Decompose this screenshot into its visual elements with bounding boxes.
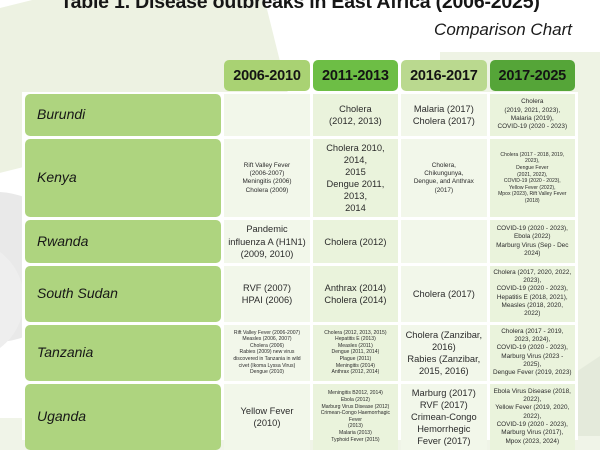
page-subtitle: Comparison Chart: [434, 20, 572, 40]
outbreak-line: COVID-19 (2020 - 2023),: [493, 225, 572, 233]
outbreak-line: RVF (2017): [404, 399, 483, 411]
outbreak-line: Chikungunya,: [404, 170, 483, 178]
outbreak-line: Crimean-Congo: [404, 411, 483, 423]
outbreak-cell: Meningitis B2012, 2014)Ebola (2012)Marbu…: [313, 384, 398, 450]
country-label: Burundi: [25, 94, 221, 136]
outbreak-line: Anthrax (2012, 2014): [316, 369, 395, 376]
outbreak-line: Rift Valley Fever (2006-2007): [227, 330, 306, 337]
table-header: 2006-2010 2011-2013 2016-2017 2017-2025: [25, 60, 575, 91]
table-body: BurundiCholera(2012, 2013)Malaria (2017)…: [25, 94, 575, 450]
country-label: Uganda: [25, 384, 221, 450]
outbreak-line: COVID-19 (2020 - 2023): [493, 123, 572, 131]
outbreak-line: Typhoid Fever (2015): [316, 437, 395, 444]
outbreak-line: Yellow Fever: [227, 405, 306, 417]
table-row: South SudanRVF (2007)HPAI (2006)Anthrax …: [25, 266, 575, 322]
column-header-2017-2025: 2017-2025: [490, 60, 575, 91]
outbreak-line: Plague (2011): [316, 356, 395, 363]
outbreak-cell: Yellow Fever(2010): [224, 384, 309, 450]
outbreak-cell: Cholera (2017 - 2018, 2019, 2023),Dengue…: [490, 139, 575, 217]
outbreak-line: (2021, 2022),: [493, 172, 572, 179]
column-header-2006-2010: 2006-2010: [224, 60, 309, 91]
outbreak-cell: Marburg (2017)RVF (2017)Crimean-CongoHem…: [401, 384, 486, 450]
country-label: Tanzania: [25, 325, 221, 381]
outbreak-line: Cholera (2017): [404, 288, 483, 300]
outbreak-line: Cholera (2014): [316, 294, 395, 306]
outbreak-line: Anthrax (2014): [316, 282, 395, 294]
outbreak-line: COVID-19 (2020 - 2023),: [493, 285, 572, 293]
outbreak-cell: Cholera(2019, 2021, 2023),Malaria (2019)…: [490, 94, 575, 136]
outbreak-line: (2006-2007): [227, 170, 306, 178]
country-column-header: [25, 60, 221, 91]
outbreak-line: Cholera (2017 - 2019, 2023, 2024),: [493, 328, 572, 345]
outbreak-line: Cholera (2012, 2013, 2015): [316, 330, 395, 337]
outbreak-line: Cholera: [493, 98, 572, 106]
outbreak-cell: [224, 94, 309, 136]
outbreak-cell: Ebola Virus Disease (2018, 2022),Yellow …: [490, 384, 575, 450]
outbreak-cell: Cholera 2010, 2014,2015Dengue 2011, 2013…: [313, 139, 398, 217]
table-header-row: 2006-2010 2011-2013 2016-2017 2017-2025: [25, 60, 575, 91]
outbreak-line: Rabies (Zanzibar,: [404, 353, 483, 365]
country-label: Rwanda: [25, 220, 221, 262]
outbreak-line: COVID-19 (2020 - 2023),: [493, 421, 572, 429]
outbreak-line: Cholera 2010, 2014,: [316, 142, 395, 166]
outbreak-line: Yellow Fever (2019, 2020, 2022),: [493, 404, 572, 421]
outbreak-line: Marburg (2017): [404, 387, 483, 399]
page-title: Table 1. Disease outbreaks in East Afric…: [0, 0, 600, 14]
outbreak-line: Ebola (2022): [493, 233, 572, 241]
outbreak-line: Cholera (Zanzibar,: [404, 329, 483, 341]
outbreak-line: Dengue (2011, 2014): [316, 349, 395, 356]
outbreak-cell: Cholera (2017): [401, 266, 486, 322]
outbreak-line: Measles (2011): [316, 343, 395, 350]
outbreak-line: Dengue, and Anthrax: [404, 178, 483, 186]
outbreak-cell: Cholera (Zanzibar,2016)Rabies (Zanzibar,…: [401, 325, 486, 381]
outbreak-line: Pandemic: [227, 223, 306, 235]
outbreak-cell: Anthrax (2014)Cholera (2014): [313, 266, 398, 322]
outbreak-line: (2010): [227, 417, 306, 429]
outbreak-line: Meningitis B2012, 2014): [316, 390, 395, 397]
outbreak-cell: [401, 220, 486, 262]
outbreak-line: Marburg Virus (2023 - 2025),: [493, 353, 572, 370]
outbreak-cell: RVF (2007)HPAI (2006): [224, 266, 309, 322]
outbreak-cell: Cholera (2017 - 2019, 2023, 2024),COVID-…: [490, 325, 575, 381]
outbreak-line: (2009, 2010): [227, 248, 306, 260]
outbreak-cell: COVID-19 (2020 - 2023),Ebola (2022)Marbu…: [490, 220, 575, 262]
table-row: TanzaniaRift Valley Fever (2006-2007)Mea…: [25, 325, 575, 381]
outbreak-line: 2016): [404, 341, 483, 353]
outbreak-line: 2022): [493, 310, 572, 318]
outbreak-line: Malaria (2017): [404, 103, 483, 115]
outbreak-line: influenza A (H1N1): [227, 236, 306, 248]
outbreak-line: Mpox (2023), Rift Valley Fever (2018): [493, 191, 572, 204]
outbreak-line: Cholera: [316, 103, 395, 115]
column-header-2016-2017: 2016-2017: [401, 60, 486, 91]
outbreak-line: 2015: [316, 166, 395, 178]
outbreak-line: Hemorrhegic Fever (2017): [404, 423, 483, 447]
outbreak-line: Mpox (2023, 2024): [493, 438, 572, 446]
outbreak-line: Cholera (2017, 2020, 2022,: [493, 269, 572, 277]
outbreak-cell: Rift Valley Fever(2006-2007)Meningitis (…: [224, 139, 309, 217]
outbreak-line: discovered in Tanzania in wild: [227, 356, 306, 363]
outbreak-line: (2017): [404, 187, 483, 195]
outbreak-line: Dengue Fever: [493, 165, 572, 172]
outbreak-table-container: 2006-2010 2011-2013 2016-2017 2017-2025 …: [22, 57, 578, 450]
outbreak-line: Rabies (2009) new virus: [227, 349, 306, 356]
outbreak-cell: Rift Valley Fever (2006-2007)Measles (20…: [224, 325, 309, 381]
outbreak-line: (2019, 2021, 2023),: [493, 107, 572, 115]
outbreak-cell: Cholera(2012, 2013): [313, 94, 398, 136]
outbreak-line: Marburg Virus (Sep - Dec: [493, 242, 572, 250]
outbreak-cell: Pandemicinfluenza A (H1N1)(2009, 2010): [224, 220, 309, 262]
table-row: UgandaYellow Fever(2010)Meningitis B2012…: [25, 384, 575, 450]
outbreak-cell: Malaria (2017)Cholera (2017): [401, 94, 486, 136]
outbreak-line: Measles (2006, 2007): [227, 336, 306, 343]
outbreak-line: RVF (2007): [227, 282, 306, 294]
outbreak-cell: Cholera,Chikungunya,Dengue, and Anthrax(…: [401, 139, 486, 217]
outbreak-line: civet (Ikoma Lyssa Virus): [227, 363, 306, 370]
outbreak-line: (2013): [316, 423, 395, 430]
outbreak-line: Hepatitis E (2018, 2021),: [493, 294, 572, 302]
outbreak-cell: Cholera (2012, 2013, 2015)Hepatitis E (2…: [313, 325, 398, 381]
outbreak-line: 2024): [493, 250, 572, 258]
outbreak-line: Meningitis (2006): [227, 178, 306, 186]
outbreak-line: Malaria (2013): [316, 430, 395, 437]
outbreak-line: Hepatitis E (2013): [316, 336, 395, 343]
outbreak-line: 2015, 2016): [404, 365, 483, 377]
outbreak-line: Cholera,: [404, 162, 483, 170]
outbreak-line: Dengue 2011, 2013,: [316, 178, 395, 202]
column-header-2011-2013: 2011-2013: [313, 60, 398, 91]
outbreak-line: 2023),: [493, 277, 572, 285]
outbreak-line: Cholera (2017): [404, 115, 483, 127]
outbreak-line: Marburg Virus (2017),: [493, 429, 572, 437]
outbreak-line: 2014: [316, 202, 395, 214]
outbreak-line: Cholera (2006): [227, 343, 306, 350]
outbreak-line: Crimean-Congo Haemorrhagic Fever: [316, 410, 395, 423]
outbreak-line: Yellow Fever (2022),: [493, 185, 572, 192]
outbreak-line: Cholera (2012): [316, 236, 395, 248]
outbreak-cell: Cholera (2012): [313, 220, 398, 262]
outbreak-line: Meningitis (2014): [316, 363, 395, 370]
slide-page: Table 1. Disease outbreaks in East Afric…: [0, 0, 600, 450]
outbreak-line: COVID-19 (2020 - 2023),: [493, 178, 572, 185]
outbreak-line: HPAI (2006): [227, 294, 306, 306]
outbreak-line: (2012, 2013): [316, 115, 395, 127]
table-row: KenyaRift Valley Fever(2006-2007)Meningi…: [25, 139, 575, 217]
outbreak-table: 2006-2010 2011-2013 2016-2017 2017-2025 …: [22, 57, 578, 450]
outbreak-line: Cholera (2017 - 2018, 2019, 2023),: [493, 152, 572, 165]
table-row: RwandaPandemicinfluenza A (H1N1)(2009, 2…: [25, 220, 575, 262]
outbreak-line: Dengue (2010): [227, 369, 306, 376]
outbreak-line: Rift Valley Fever: [227, 162, 306, 170]
country-label: South Sudan: [25, 266, 221, 322]
outbreak-cell: Cholera (2017, 2020, 2022,2023),COVID-19…: [490, 266, 575, 322]
table-row: BurundiCholera(2012, 2013)Malaria (2017)…: [25, 94, 575, 136]
outbreak-line: Marburg Virus Disease (2012): [316, 404, 395, 411]
outbreak-line: Malaria (2019),: [493, 115, 572, 123]
outbreak-line: Dengue Fever (2019, 2023): [493, 369, 572, 377]
country-label: Kenya: [25, 139, 221, 217]
outbreak-line: Cholera (2009): [227, 187, 306, 195]
outbreak-line: Ebola Virus Disease (2018, 2022),: [493, 388, 572, 405]
outbreak-line: Ebola (2012): [316, 397, 395, 404]
outbreak-line: COVID-19 (2020 - 2023),: [493, 344, 572, 352]
outbreak-line: Measles (2018, 2020,: [493, 302, 572, 310]
